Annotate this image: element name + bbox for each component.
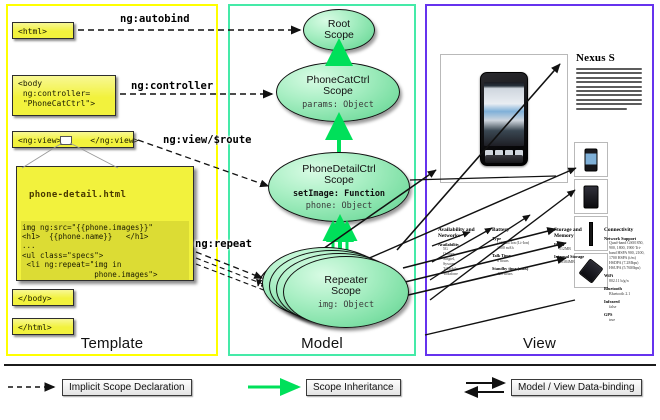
code-html-open: <html> <box>12 22 74 39</box>
label-ng-view-route: ng:view/$route <box>163 134 252 146</box>
panel-template-label: Template <box>8 335 216 352</box>
scope-phonecatctrl: PhoneCatCtrl Scope params: Object <box>276 62 400 122</box>
scope-root: Root Scope <box>303 9 375 51</box>
code-ng-view: <ng:view> </ng:view> <box>12 131 134 148</box>
legend-item-scope-inheritance: Scope Inheritance <box>306 379 401 396</box>
legend: Implicit Scope Declaration Scope Inherit… <box>0 362 660 420</box>
scope-phonedetailctrl: PhoneDetailCtrl Scope setImage: Function… <box>268 152 410 222</box>
spec-value: Bluetooth 2.1 <box>604 292 646 297</box>
spec-table: Availability and Networks Availability 5… <box>436 227 643 295</box>
code-body-close: </body> <box>12 289 74 306</box>
diagram-canvas: Template Model View <html> <body ng:cont… <box>0 0 660 420</box>
spec-column-battery: Battery Type Lithium Ion (Li-Ion) 1500 m… <box>492 227 546 277</box>
scope-repeater-line2: Scope <box>331 285 361 297</box>
partial-code: img ng:src="{{phone.images}}" <h1> {{pho… <box>21 221 189 281</box>
view-page-mock: Nexus S Availability and Networks Availa… <box>434 12 645 337</box>
phone-hero-image <box>480 72 528 166</box>
spec-column-availability: Availability and Networks Availability 5… <box>438 227 482 277</box>
scope-root-line1: Root <box>328 18 350 30</box>
spec-value: true <box>604 318 646 323</box>
scope-phonedetailctrl-prop-setimage: setImage: Function <box>293 189 385 199</box>
scope-repeater-line1: Repeater <box>324 274 367 286</box>
spec-value: 512MB <box>554 247 602 252</box>
scope-phonedetailctrl-line2: Scope <box>324 174 354 186</box>
scope-root-line2: Scope <box>324 29 354 41</box>
scope-repeater-prop-img: img: Object <box>318 300 374 310</box>
label-ng-repeat: ng:repeat <box>195 238 252 250</box>
legend-item-implicit-scope-declaration: Implicit Scope Declaration <box>62 379 192 396</box>
thumbnail-back-icon <box>584 185 599 208</box>
spec-value: HSUPA (5.76Mbps) <box>604 266 646 271</box>
spec-column-connectivity: Connectivity Network Support Quad-band G… <box>604 227 646 323</box>
spec-header-battery: Battery <box>492 227 546 233</box>
phone-screen <box>484 82 524 146</box>
spec-header-availability: Availability and Networks <box>438 227 482 239</box>
hero-photo-frame <box>440 54 568 183</box>
scope-phonecatctrl-line1: PhoneCatCtrl <box>306 74 369 86</box>
spec-header-storage: Storage and Memory <box>554 227 602 239</box>
spec-value: 428 hours <box>492 272 546 277</box>
label-ng-autobind: ng:autobind <box>120 13 190 25</box>
spec-value: 802.11 b/g/n <box>604 279 646 284</box>
spec-value: 1500 mAh <box>492 246 546 251</box>
spec-value: Vodafone <box>438 272 482 277</box>
ng-view-slot <box>60 136 72 145</box>
scope-phonecatctrl-prop-params: params: Object <box>302 100 374 110</box>
product-description <box>576 68 642 134</box>
spec-value: 16384MB <box>554 260 602 265</box>
spec-column-storage: Storage and Memory RAM 512MB Internal St… <box>554 227 602 265</box>
panel-model-label: Model <box>230 335 414 352</box>
product-title: Nexus S <box>576 52 615 64</box>
spec-header-connectivity: Connectivity <box>604 227 646 233</box>
scope-phonedetailctrl-prop-phone: phone: Object <box>306 201 373 211</box>
legend-divider <box>4 364 656 366</box>
scope-phonecatctrl-line2: Scope <box>323 85 353 97</box>
code-body-open: <body ng:controller= "PhoneCatCtrl"> <box>12 75 116 116</box>
spec-value: 6 hours <box>492 259 546 264</box>
legend-item-model-view-data-binding: Model / View Data-binding <box>511 379 642 396</box>
partial-template-card: phone-detail.html img ng:src="{{phone.im… <box>16 166 194 281</box>
spec-value: false <box>604 305 646 310</box>
code-html-close: </html> <box>12 318 74 335</box>
thumbnail-back[interactable] <box>574 179 608 214</box>
scope-repeater: Repeater Scope img: Object <box>283 256 409 328</box>
phone-nav-bar <box>485 155 523 163</box>
label-ng-controller: ng:controller <box>131 80 213 92</box>
thumbnail-front[interactable] <box>574 142 608 177</box>
scope-phonedetailctrl-line1: PhoneDetailCtrl <box>302 163 376 175</box>
panel-view-label: View <box>427 335 652 352</box>
thumbnail-front-icon <box>585 148 598 171</box>
partial-filename: phone-detail.html <box>21 189 189 201</box>
